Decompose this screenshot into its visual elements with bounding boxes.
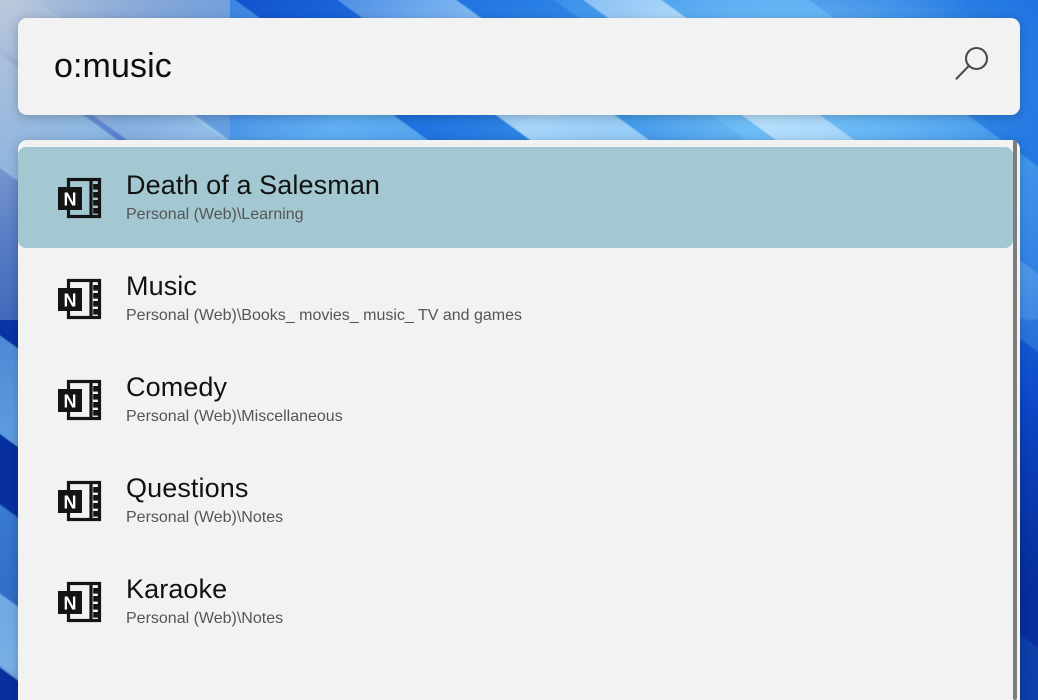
search-result-title: Karaoke	[126, 574, 283, 604]
search-result-item[interactable]: N Karaoke Personal (Web)\Notes	[18, 551, 1020, 652]
onenote-icon: N	[54, 478, 108, 524]
desktop: o:music	[0, 0, 1038, 700]
search-box[interactable]: o:music	[18, 18, 1020, 115]
search-icon	[949, 41, 995, 92]
search-result-subtitle: Personal (Web)\Notes	[126, 509, 283, 527]
results-scrollbar[interactable]	[1013, 140, 1017, 700]
svg-text:N: N	[64, 290, 77, 310]
search-result-text: Comedy Personal (Web)\Miscellaneous	[108, 372, 343, 427]
search-result-subtitle: Personal (Web)\Notes	[126, 610, 283, 628]
search-result-subtitle: Personal (Web)\Books_ movies_ music_ TV …	[126, 307, 522, 325]
search-result-title: Comedy	[126, 372, 343, 402]
search-result-item[interactable]: N Death of a Salesman Personal (Web)\Lea…	[18, 147, 1013, 248]
onenote-icon: N	[54, 579, 108, 625]
search-result-item[interactable]: N Music Personal (Web)\Books_ movies_ mu…	[18, 248, 1020, 349]
search-result-text: Music Personal (Web)\Books_ movies_ musi…	[108, 271, 522, 326]
svg-text:N: N	[64, 492, 77, 512]
svg-text:N: N	[64, 391, 77, 411]
svg-text:N: N	[64, 189, 77, 209]
svg-text:N: N	[64, 593, 77, 613]
search-result-item[interactable]: N Comedy Personal (Web)\Miscellaneous	[18, 349, 1020, 450]
search-result-item[interactable]: N Questions Personal (Web)\Notes	[18, 450, 1020, 551]
search-result-text: Questions Personal (Web)\Notes	[108, 473, 283, 528]
search-result-title: Death of a Salesman	[126, 170, 380, 200]
search-result-subtitle: Personal (Web)\Learning	[126, 206, 380, 224]
search-results-panel: N Death of a Salesman Personal (Web)\Lea…	[18, 140, 1020, 700]
search-input[interactable]: o:music	[18, 47, 924, 86]
search-button[interactable]	[924, 18, 1020, 115]
search-result-text: Death of a Salesman Personal (Web)\Learn…	[108, 170, 380, 225]
search-result-title: Questions	[126, 473, 283, 503]
search-result-subtitle: Personal (Web)\Miscellaneous	[126, 408, 343, 426]
search-results-list: N Death of a Salesman Personal (Web)\Lea…	[18, 147, 1020, 652]
onenote-icon: N	[54, 377, 108, 423]
search-result-title: Music	[126, 271, 522, 301]
onenote-icon: N	[54, 276, 108, 322]
onenote-icon: N	[54, 175, 108, 221]
search-result-text: Karaoke Personal (Web)\Notes	[108, 574, 283, 629]
